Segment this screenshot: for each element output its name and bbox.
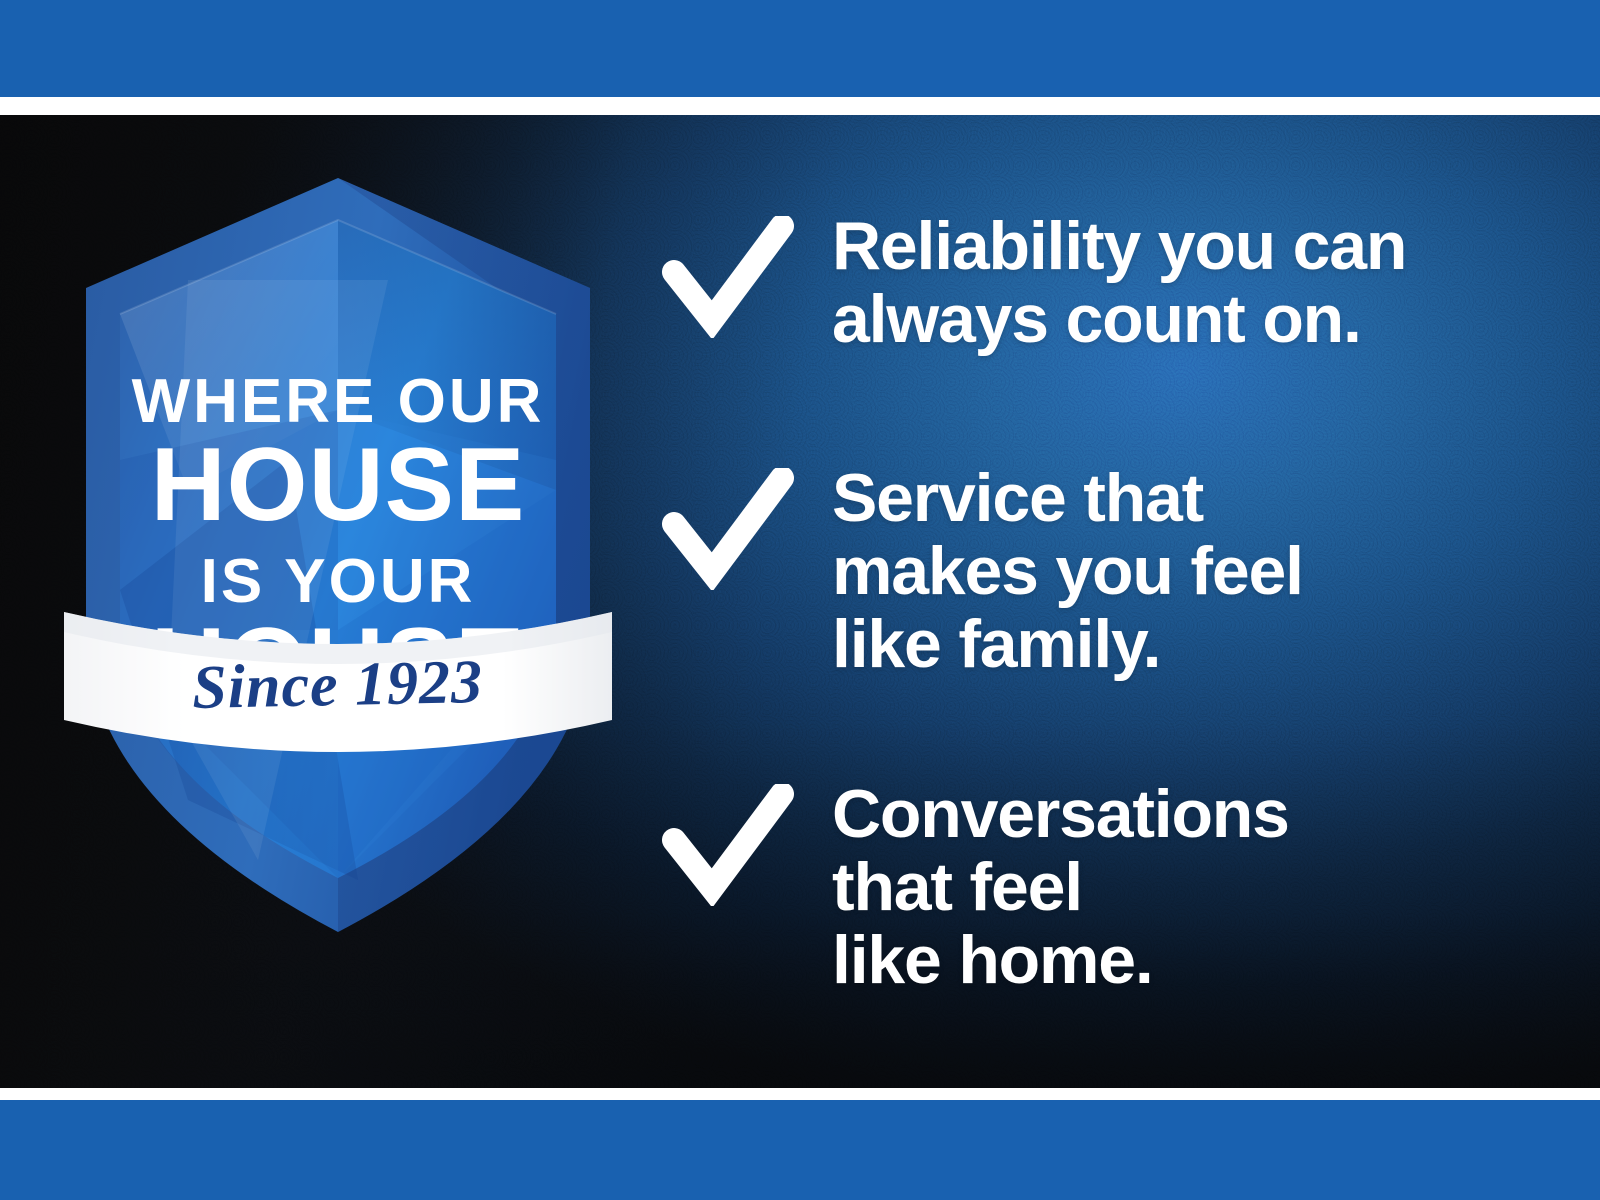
shield-line-1: WHERE OUR: [132, 367, 545, 436]
list-item: Conversations that feel like home.: [662, 778, 1289, 996]
value-prop-list: Reliability you can always count on. Ser…: [662, 180, 1522, 1040]
top-divider-stripe: [0, 97, 1600, 115]
checkmark-icon: [662, 216, 794, 338]
list-item-label: Conversations that feel like home.: [832, 778, 1289, 996]
shield-line-2: HOUSE: [151, 427, 526, 543]
promo-banner: WHERE OUR HOUSE IS YOUR HOUSE Since 1923…: [0, 0, 1600, 1200]
list-item-label: Service that makes you feel like family.: [832, 462, 1303, 680]
shield-emblem: WHERE OUR HOUSE IS YOUR HOUSE Since 1923: [58, 160, 618, 950]
shield-line-3: IS YOUR: [201, 547, 476, 616]
list-item: Reliability you can always count on.: [662, 210, 1406, 356]
since-ribbon-text: Since 1923: [192, 648, 484, 722]
bottom-divider-stripe: [0, 1088, 1600, 1100]
bottom-brand-bar: [0, 1100, 1600, 1200]
checkmark-icon: [662, 784, 794, 906]
list-item-label: Reliability you can always count on.: [832, 210, 1406, 356]
top-brand-bar: [0, 0, 1600, 97]
checkmark-icon: [662, 468, 794, 590]
list-item: Service that makes you feel like family.: [662, 462, 1303, 680]
